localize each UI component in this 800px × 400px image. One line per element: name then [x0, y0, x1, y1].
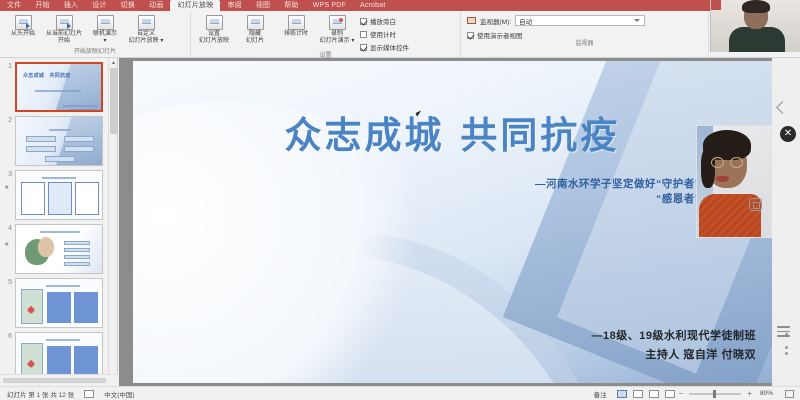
checkbox-use-presenter-view[interactable]: 使用演示者视图	[467, 30, 702, 40]
button-custom-slideshow[interactable]: 自定义 幻灯片放映 ▾	[126, 13, 166, 45]
button-start-from-beginning[interactable]: 从头开始	[3, 13, 43, 38]
button-setup-slideshow[interactable]: 设置 幻灯片放映	[194, 13, 234, 45]
checkbox-box	[360, 18, 367, 25]
slide-editing-area[interactable]: 众志成城 共同抗疫 —河南水环学子坚定做好“守护者”、“修行者” “感恩者”、“…	[119, 58, 772, 386]
slideshow-view-icon[interactable]	[665, 390, 675, 398]
monitor-select-row: 监视器(M): 自动	[467, 15, 702, 26]
ribbon-tab-review[interactable]: 审阅	[220, 0, 248, 11]
group-label-monitors: 监视器	[461, 40, 708, 49]
thumbnail-number: 5	[3, 278, 15, 286]
ribbon-tab-home[interactable]: 开始	[28, 0, 56, 11]
slide-footer-line-2: 主持人 寇自洋 付晓双	[592, 346, 756, 365]
setup-checkbox-list: 播放旁白 使用计时 显示媒体控件	[358, 13, 413, 52]
button-hide-slide[interactable]: 隐藏 幻灯片	[235, 13, 275, 45]
ribbon-group-start-slideshow: 从头开始 从当前幻灯片 开始 联机演示 ▾ 自定义 幻灯片放映 ▾ 开始放映幻灯…	[0, 11, 190, 57]
zoom-slider-knob[interactable]	[713, 390, 716, 398]
custom-show-icon	[138, 15, 155, 30]
button-present-online[interactable]: 联机演示 ▾	[85, 13, 125, 45]
slide-thumbnail-pane[interactable]: 1 众志成城 共同抗疫 2 3	[0, 58, 118, 386]
slide-title[interactable]: 众志成城 共同抗疫	[133, 105, 772, 159]
accessibility-icon[interactable]	[84, 390, 94, 398]
thumbnail-row-1[interactable]: 1 众志成城 共同抗疫	[0, 58, 117, 112]
scrollbar-thumb[interactable]	[110, 68, 117, 134]
checkbox-label: 显示媒体控件	[370, 42, 409, 52]
language-indicator[interactable]: 中文(中国)	[97, 389, 141, 399]
ribbon-group-monitors: 监视器(M): 自动 使用演示者视图 监视器	[460, 11, 708, 57]
snapshot-icon[interactable]	[749, 198, 762, 211]
ribbon-tab-help[interactable]: 帮助	[277, 0, 305, 11]
checkbox-box	[360, 31, 367, 38]
checkbox-box	[467, 32, 474, 39]
ribbon-tab-view[interactable]: 视图	[249, 0, 277, 11]
chevron-down-icon	[634, 19, 640, 22]
ribbon-tab-insert[interactable]: 插入	[57, 0, 85, 11]
scroll-up-icon[interactable]: ▲	[783, 331, 790, 338]
zoom-percent[interactable]: 80%	[753, 390, 780, 397]
group-label-start-slideshow: 开始放映幻灯片	[0, 48, 190, 57]
powerpoint-window: 文件 开始 插入 设计 切换 动画 幻灯片放映 审阅 视图 帮助 WPS PDF…	[0, 0, 800, 400]
thumbnail-pane-footer	[0, 374, 118, 386]
button-rehearse-timings[interactable]: 排练计时	[276, 13, 316, 38]
ribbon-tab-design[interactable]: 设计	[85, 0, 113, 11]
thumbnail-scrollbar[interactable]: ▲ ▼	[108, 58, 117, 386]
monitor-dropdown[interactable]: 自动	[515, 15, 645, 26]
horizontal-scrollbar[interactable]	[3, 378, 106, 383]
record-show-icon	[329, 15, 346, 30]
ribbon-tab-file[interactable]: 文件	[0, 0, 28, 11]
notes-button[interactable]: 备注	[587, 389, 614, 399]
hide-slide-icon	[247, 15, 264, 30]
thumbnail-row-2[interactable]: 2	[0, 112, 117, 166]
setup-show-icon	[206, 15, 223, 30]
normal-view-icon[interactable]	[617, 390, 627, 398]
checkbox-play-narrations[interactable]: 播放旁白	[360, 16, 409, 26]
meeting-side-strip: ▲	[772, 58, 800, 386]
monitor-icon	[467, 17, 476, 24]
glasses-icon	[711, 157, 743, 168]
checkbox-use-timings[interactable]: 使用计时	[360, 29, 409, 39]
reading-view-icon[interactable]	[649, 390, 659, 398]
checkbox-show-media-controls[interactable]: 显示媒体控件	[360, 42, 409, 52]
thumbnail-row-5[interactable]: 5	[0, 274, 117, 328]
thumbnail-slide-2[interactable]	[15, 116, 103, 166]
ribbon-tab-wpspdf[interactable]: WPS PDF	[306, 0, 353, 11]
scroll-up-arrow[interactable]: ▲	[110, 59, 117, 67]
status-bar: 幻灯片 第 1 张 共 12 张 中文(中国) 备注 − + 80%	[0, 386, 800, 400]
thumbnail-slide-5[interactable]	[15, 278, 103, 328]
rehearse-timing-icon	[288, 15, 305, 30]
thumbnail-number: 4	[3, 224, 15, 232]
chevron-left-icon[interactable]	[776, 101, 789, 114]
webcam-participant-floating[interactable]	[696, 125, 772, 238]
thumbnail-number: 1	[3, 62, 15, 70]
slideshow-start-icon	[15, 15, 32, 30]
ribbon-tab-animations[interactable]: 动画	[142, 0, 170, 11]
animation-star-icon-3: ★	[4, 184, 9, 191]
thumbnail-number: 6	[3, 332, 15, 340]
close-icon[interactable]: ✕	[780, 126, 796, 142]
thumbnail-number: 3	[3, 170, 15, 178]
ribbon-group-setup: 设置 幻灯片放映 隐藏 幻灯片 排练计时 录制 幻灯片演示 ▾	[190, 11, 460, 57]
thumbnail-slide-1[interactable]: 众志成城 共同抗疫	[15, 62, 103, 112]
slideshow-current-icon	[56, 15, 73, 30]
thumbnail-number: 2	[3, 116, 15, 124]
monitor-dropdown-value: 自动	[519, 16, 532, 26]
zoom-out-button[interactable]: −	[678, 389, 685, 398]
checkbox-box	[360, 44, 367, 51]
thumbnail-slide-3[interactable]	[15, 170, 103, 220]
monitor-label: 监视器(M):	[480, 16, 511, 26]
checkbox-label: 播放旁白	[370, 16, 396, 26]
slide-counter: 幻灯片 第 1 张 共 12 张	[0, 389, 81, 399]
thumbnail-row-3[interactable]: 3	[0, 166, 117, 220]
fit-to-window-icon[interactable]	[785, 390, 794, 398]
slide-footer-line-1: —18级、19级水利现代学徒制班	[592, 327, 756, 346]
ribbon-body: 从头开始 从当前幻灯片 开始 联机演示 ▾ 自定义 幻灯片放映 ▾ 开始放映幻灯…	[0, 11, 800, 58]
zoom-in-button[interactable]: +	[746, 389, 753, 398]
ribbon-tab-slideshow[interactable]: 幻灯片放映	[170, 0, 220, 11]
zoom-slider[interactable]	[689, 393, 741, 395]
present-online-icon	[97, 15, 114, 30]
slide-footer[interactable]: —18级、19级水利现代学徒制班 主持人 寇自洋 付晓双	[592, 327, 756, 365]
checkbox-label: 使用计时	[370, 29, 396, 39]
checkbox-label: 使用演示者视图	[477, 30, 523, 40]
ribbon-tab-acrobat[interactable]: Acrobat	[353, 0, 393, 11]
thumbnail-slide-4[interactable]	[15, 224, 103, 274]
thumbnail-row-4[interactable]: 4	[0, 220, 117, 274]
button-start-from-current[interactable]: 从当前幻灯片 开始	[44, 13, 84, 45]
thumb-title-text: 众志成城 共同抗疫	[23, 72, 71, 79]
ribbon-tab-transitions[interactable]: 切换	[114, 0, 142, 11]
ribbon-tab-bar: 文件 开始 插入 设计 切换 动画 幻灯片放映 审阅 视图 帮助 WPS PDF…	[0, 0, 800, 11]
current-slide[interactable]: 众志成城 共同抗疫 —河南水环学子坚定做好“守护者”、“修行者” “感恩者”、“…	[133, 61, 772, 383]
button-record-slideshow[interactable]: 录制 幻灯片演示 ▾	[317, 13, 357, 45]
slide-sorter-icon[interactable]	[633, 390, 643, 398]
webcam-participant-top[interactable]	[710, 0, 800, 52]
animation-star-icon-4: ★	[4, 241, 9, 248]
more-options-icon[interactable]	[785, 346, 788, 358]
